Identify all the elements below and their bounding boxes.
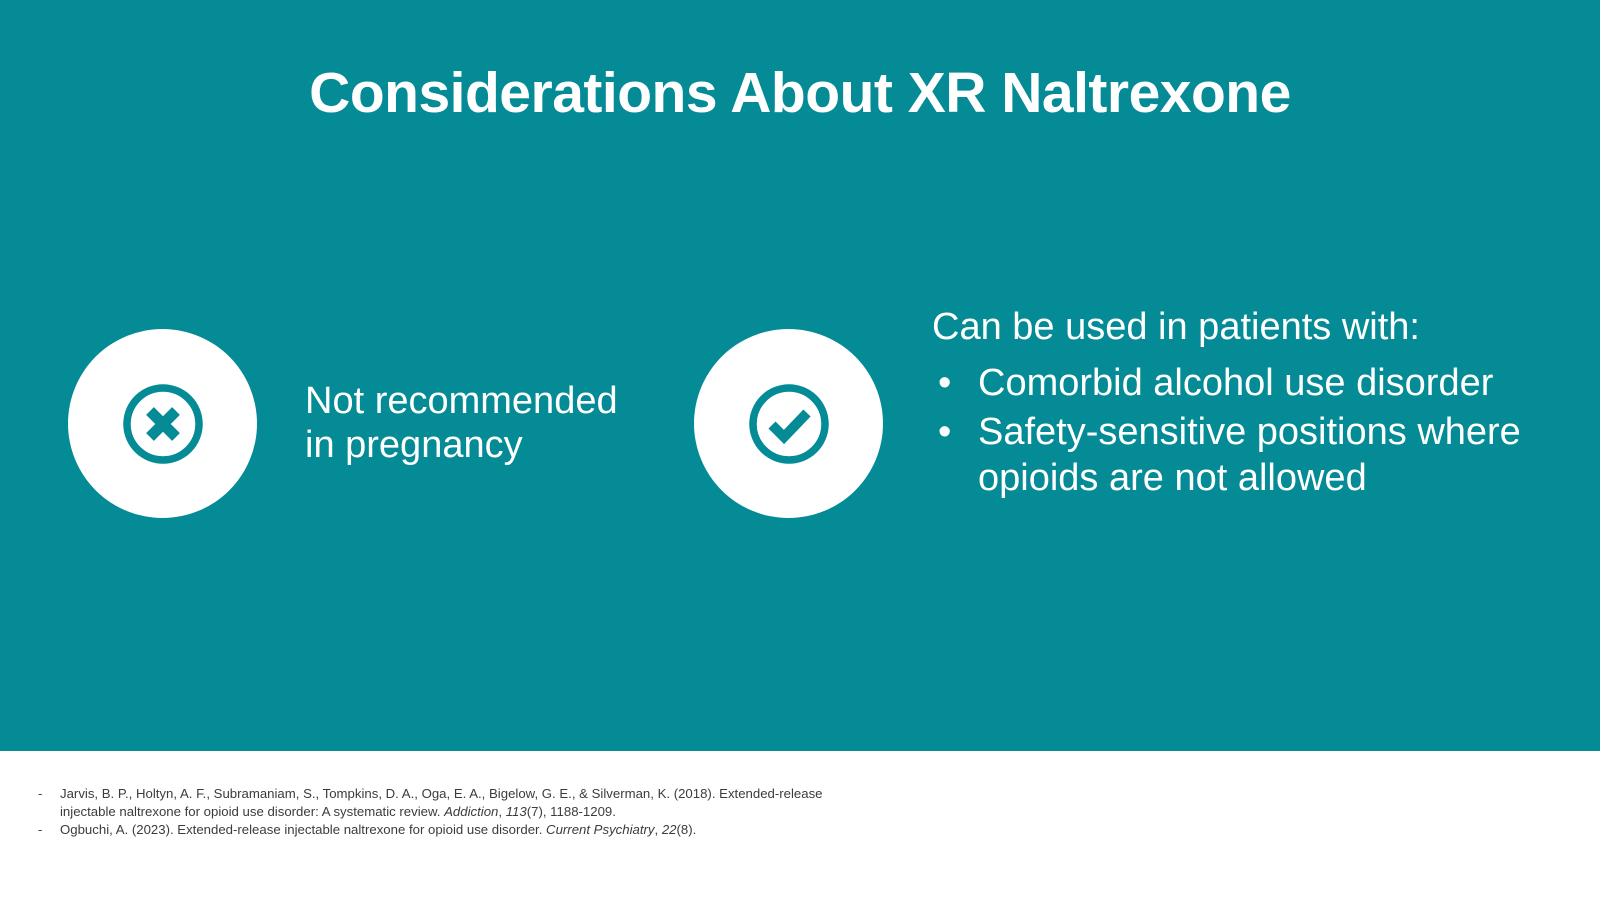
not-recommended-text-line2: in pregnancy [305, 423, 655, 467]
bullet-icon: • [932, 361, 978, 407]
can-be-used-heading: Can be used in patients with: [932, 305, 1532, 351]
can-be-used-block: Can be used in patients with: • Comorbid… [932, 305, 1532, 505]
list-item-label: Safety-sensitive positions where opioids… [978, 410, 1532, 501]
reference-separator: , [655, 822, 662, 837]
not-recommended-text-line1: Not recommended [305, 379, 655, 423]
reference-separator: , [498, 804, 505, 819]
can-be-used-icon-badge [694, 329, 883, 518]
reference-dash: - [38, 821, 60, 839]
reference-item: - Jarvis, B. P., Holtyn, A. F., Subraman… [38, 785, 828, 821]
reference-issue-pages: (8). [677, 822, 697, 837]
reference-dash: - [38, 785, 60, 803]
reference-issue-pages: (7), 1188-1209. [527, 804, 616, 819]
reference-journal: Addiction [444, 804, 498, 819]
reference-text: Jarvis, B. P., Holtyn, A. F., Subramania… [60, 785, 828, 821]
reference-item: - Ogbuchi, A. (2023). Extended-release i… [38, 821, 828, 839]
references-list: - Jarvis, B. P., Holtyn, A. F., Subraman… [38, 785, 828, 840]
list-item: • Comorbid alcohol use disorder [932, 361, 1532, 407]
slide-footer: - Jarvis, B. P., Holtyn, A. F., Subraman… [0, 751, 1600, 899]
reference-journal: Current Psychiatry [546, 822, 654, 837]
reference-authors-title: Jarvis, B. P., Holtyn, A. F., Subramania… [60, 786, 823, 819]
slide: Considerations About XR Naltrexone Not r… [0, 0, 1600, 899]
list-item-label: Comorbid alcohol use disorder [978, 361, 1532, 407]
reference-volume: 22 [662, 822, 677, 837]
reference-text: Ogbuchi, A. (2023). Extended-release inj… [60, 821, 828, 839]
not-recommended-text: Not recommended in pregnancy [305, 379, 655, 468]
bullet-icon: • [932, 410, 978, 456]
page-title: Considerations About XR Naltrexone [0, 62, 1600, 125]
list-item: • Safety-sensitive positions where opioi… [932, 410, 1532, 501]
x-circle-icon [119, 380, 207, 468]
reference-authors-title: Ogbuchi, A. (2023). Extended-release inj… [60, 822, 546, 837]
not-recommended-icon-badge [68, 329, 257, 518]
check-circle-icon [745, 380, 833, 468]
reference-volume: 113 [506, 804, 527, 819]
